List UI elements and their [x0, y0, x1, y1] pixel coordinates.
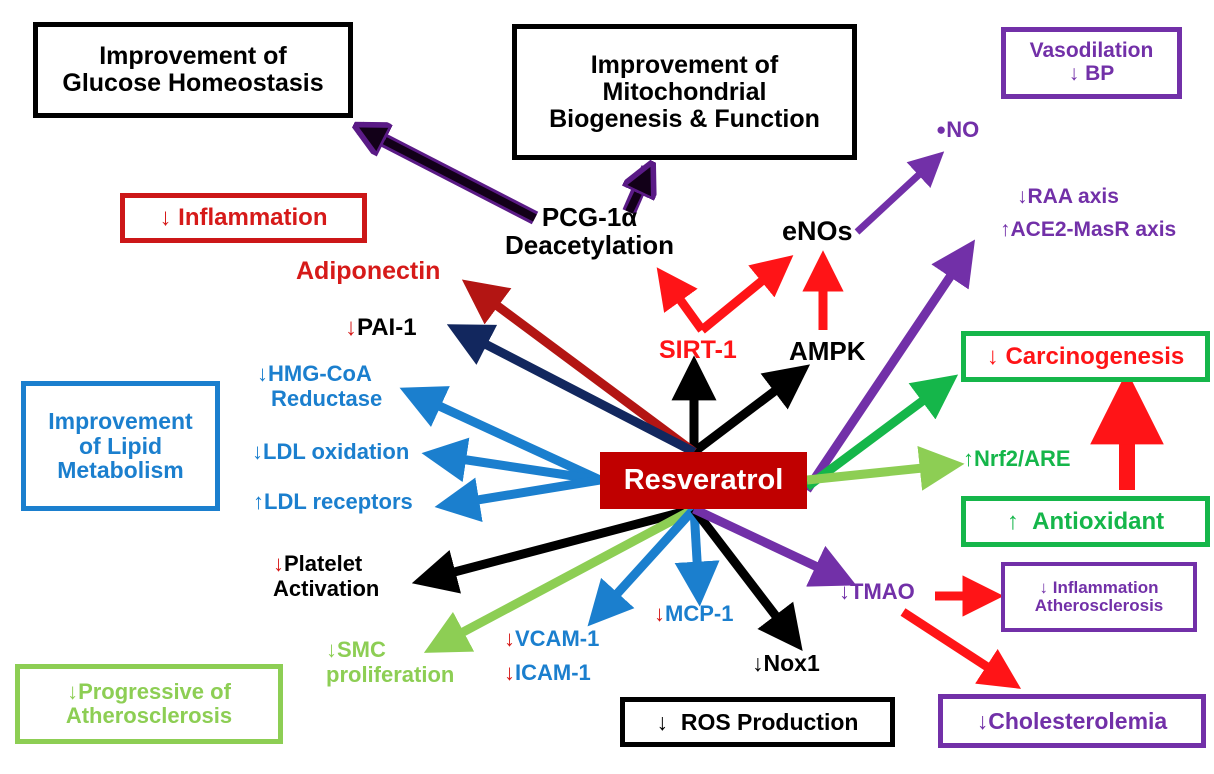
smc-line2: proliferation	[326, 662, 454, 687]
node-platelet-activation: ↓Platelet Activation	[273, 552, 379, 601]
box-inflammation: ↓ Inflammation	[120, 193, 367, 243]
edge-resveratrol-to-adiponectin	[472, 287, 694, 452]
prog-athero-line1: Progressive of	[78, 679, 231, 704]
node-mcp1: ↓MCP-1	[654, 602, 733, 626]
node-pcg1a-deacetylation: PCG-1α Deacetylation	[505, 203, 674, 259]
down-arrow-icon: ↓	[657, 711, 669, 734]
down-arrow-icon: ↓	[987, 345, 999, 369]
node-ace2-masr-axis: ↑ACE2-MasR axis	[1000, 219, 1176, 242]
edge-sirt1-to-enos	[702, 262, 785, 330]
edge-resveratrol-to-mcp1	[694, 509, 699, 594]
up-arrow-icon: ↑	[1000, 219, 1011, 240]
pcg-line2: Deacetylation	[505, 230, 674, 260]
pai1-label: PAI-1	[357, 314, 417, 341]
edge-resveratrol-to-platelet	[424, 509, 694, 580]
down-arrow-icon: ↓	[345, 316, 357, 340]
sirt1-label: SIRT-1	[659, 336, 737, 364]
inflam-athero-line2: Atherosclerosis	[1035, 596, 1164, 615]
edge-resveratrol-to-hmgcoa	[411, 393, 600, 480]
ace2-label: ACE2-MasR axis	[1011, 218, 1177, 241]
box-carcinogenesis: ↓ Carcinogenesis	[961, 331, 1210, 382]
nox1-label: Nox1	[764, 650, 820, 676]
ldl-receptors-label: LDL receptors	[264, 489, 413, 514]
down-arrow-icon: ↓	[257, 363, 268, 385]
node-no: ●NO	[936, 118, 979, 142]
down-arrow-icon: ↓	[504, 628, 515, 650]
down-arrow-icon: ↓	[326, 639, 337, 661]
raa-label: RAA axis	[1028, 185, 1119, 208]
ldl-oxidation-label: LDL oxidation	[263, 439, 409, 464]
box-cholesterolemia: ↓Cholesterolemia	[938, 694, 1206, 748]
edge-resveratrol-to-carcinogenesis	[807, 382, 948, 487]
node-enos: eNOs	[782, 217, 853, 246]
down-arrow-icon: ↓	[977, 710, 989, 733]
vasodilation-label: Vasodilation	[1030, 39, 1154, 62]
up-arrow-icon: ↑	[963, 448, 974, 470]
glucose-line2: Glucose Homeostasis	[62, 69, 323, 97]
node-ldl-oxidation: ↓LDL oxidation	[252, 440, 409, 464]
down-arrow-icon: ↓	[252, 441, 263, 463]
down-arrow-icon: ↓	[67, 681, 78, 703]
down-arrow-icon: ↓	[654, 603, 665, 625]
node-ampk: AMPK	[789, 337, 866, 365]
adiponectin-label: Adiponectin	[296, 257, 440, 285]
nrf2-label: Nrf2/ARE	[974, 446, 1071, 471]
node-ldl-receptors: ↑LDL receptors	[253, 490, 413, 514]
mito-line3: Biogenesis & Function	[549, 105, 820, 133]
down-arrow-icon: ↓	[1069, 63, 1080, 84]
inflammation-label: Inflammation	[178, 204, 327, 231]
edge-resveratrol-to-ampk	[694, 372, 800, 452]
ros-label: ROS Production	[681, 709, 859, 735]
smc-line1: SMC	[337, 637, 386, 662]
node-nrf2-are: ↑Nrf2/ARE	[963, 447, 1071, 471]
pcg-line1: PCG-1α	[542, 202, 637, 232]
box-progressive-atherosclerosis: ↓Progressive of Atherosclerosis	[15, 664, 283, 744]
edge-resveratrol-to-ace2	[807, 250, 968, 490]
mcp1-label: MCP-1	[665, 601, 733, 626]
inflam-athero-line1: Inflammation	[1053, 578, 1159, 597]
up-arrow-icon: ↑	[253, 491, 264, 513]
tmao-label: TMAO	[850, 579, 915, 604]
resveratrol-label: Resveratrol	[624, 465, 784, 496]
lipid-line3: Metabolism	[57, 457, 184, 483]
edge-enos-to-no	[857, 158, 937, 232]
platelet-line2: Activation	[273, 576, 379, 601]
node-raa-axis: ↓RAA axis	[1017, 186, 1119, 209]
hmg-line2: Reductase	[271, 387, 382, 412]
down-arrow-icon: ↓	[1017, 186, 1028, 207]
down-arrow-icon: ↓	[159, 206, 171, 230]
antioxidant-label: Antioxidant	[1032, 508, 1164, 535]
mito-line2: Mitochondrial	[603, 78, 767, 106]
box-resveratrol: Resveratrol	[600, 452, 807, 509]
box-ros-production: ↓ ROS Production	[620, 697, 895, 747]
box-vasodilation: Vasodilation ↓ BP	[1001, 27, 1182, 99]
node-smc-proliferation: ↓SMC proliferation	[326, 638, 454, 687]
edge-sirt1-to-pcg	[663, 276, 702, 330]
box-mitochondrial-biogenesis: Improvement of Mitochondrial Biogenesis …	[512, 24, 857, 160]
icam1-label: ICAM-1	[515, 660, 591, 685]
bullet-dot-icon: ●	[936, 121, 946, 138]
node-pai1: ↓PAI-1	[345, 315, 417, 341]
ampk-label: AMPK	[789, 336, 866, 366]
mito-line1: Improvement of	[591, 51, 779, 79]
edge-tmao-to-cholesterolemia	[903, 612, 1012, 683]
node-sirt1: SIRT-1	[659, 337, 737, 364]
down-arrow-icon: ↓	[1039, 579, 1048, 596]
platelet-line1: Platelet	[284, 551, 362, 576]
node-nox1: ↓Nox1	[752, 651, 820, 676]
lipid-line1: Improvement	[48, 408, 192, 434]
down-arrow-icon: ↓	[273, 553, 284, 575]
edge-resveratrol-to-tmao	[694, 509, 845, 580]
down-arrow-icon: ↓	[504, 662, 515, 684]
box-lipid-metabolism: Improvement of Lipid Metabolism	[21, 381, 220, 511]
node-hmg-coa-reductase: ↓HMG-CoA Reductase	[257, 362, 382, 411]
box-glucose-homeostasis: Improvement of Glucose Homeostasis	[33, 22, 353, 118]
edge-resveratrol-to-ldl-oxidation	[434, 455, 600, 480]
cholesterolemia-label: Cholesterolemia	[988, 708, 1167, 734]
box-inflammation-atherosclerosis: ↓ Inflammation Atherosclerosis	[1001, 562, 1197, 632]
bp-label: BP	[1085, 62, 1114, 85]
up-arrow-icon: ↑	[1007, 510, 1019, 534]
down-arrow-icon: ↓	[752, 652, 764, 675]
glucose-line1: Improvement of	[99, 42, 287, 70]
diagram-canvas: Improvement of Glucose Homeostasis Impro…	[0, 0, 1214, 774]
node-vcam1: ↓VCAM-1	[504, 627, 599, 651]
node-tmao: ↓TMAO	[839, 580, 915, 604]
down-arrow-icon: ↓	[839, 581, 850, 603]
carcinogenesis-label: Carcinogenesis	[1005, 343, 1184, 370]
no-label: NO	[946, 117, 979, 142]
prog-athero-line2: Atherosclerosis	[66, 703, 232, 728]
node-icam1: ↓ICAM-1	[504, 661, 591, 685]
edge-resveratrol-to-ldl-receptors	[447, 480, 600, 505]
box-antioxidant: ↑ Antioxidant	[961, 496, 1210, 547]
edge-resveratrol-to-nrf2	[807, 465, 952, 480]
vcam1-label: VCAM-1	[515, 626, 599, 651]
lipid-line2: of Lipid	[79, 433, 162, 459]
enos-label: eNOs	[782, 216, 853, 246]
hmg-line1: HMG-CoA	[268, 361, 372, 386]
node-adiponectin: Adiponectin	[296, 258, 440, 285]
